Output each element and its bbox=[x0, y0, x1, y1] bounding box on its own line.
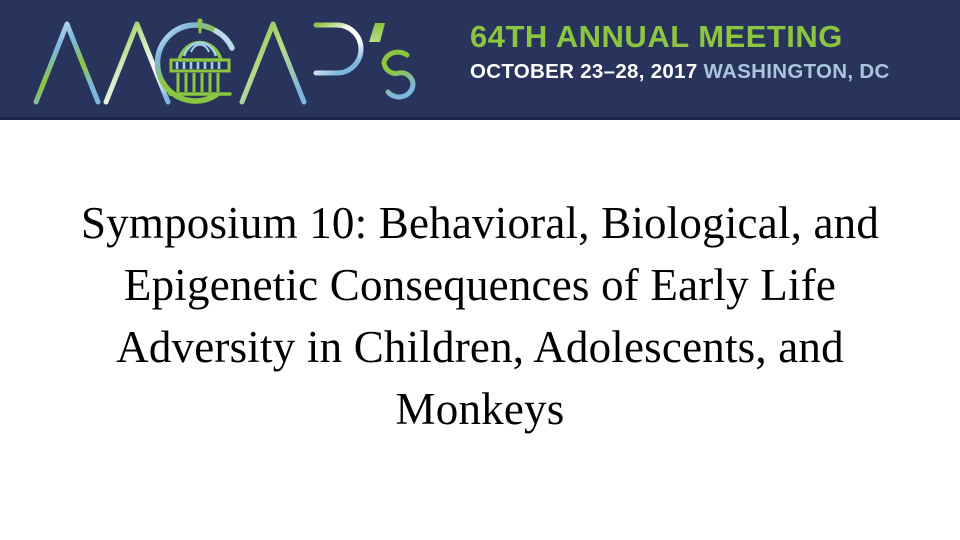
meeting-location: WASHINGTON, DC bbox=[704, 60, 890, 83]
logo-letter-a-3 bbox=[242, 24, 304, 102]
logo-letter-s bbox=[384, 52, 413, 97]
presentation-slide: 64TH ANNUAL MEETING OCTOBER 23–28, 2017 … bbox=[0, 0, 960, 540]
logo-apostrophe bbox=[369, 23, 385, 42]
slide-title: Symposium 10: Behavioral, Biological, an… bbox=[35, 192, 925, 440]
logo-letter-p bbox=[316, 25, 361, 102]
logo-letter-c-capitol-dome-icon bbox=[158, 18, 232, 101]
meeting-dates: OCTOBER 23–28, 2017 bbox=[470, 60, 698, 83]
conference-header-banner: 64TH ANNUAL MEETING OCTOBER 23–28, 2017 … bbox=[0, 0, 960, 120]
aacap-logo bbox=[28, 8, 428, 112]
meeting-title: 64TH ANNUAL MEETING bbox=[470, 20, 940, 55]
meeting-details: 64TH ANNUAL MEETING OCTOBER 23–28, 2017 … bbox=[470, 20, 940, 84]
banner-content: 64TH ANNUAL MEETING OCTOBER 23–28, 2017 … bbox=[0, 0, 960, 117]
meeting-subtitle: OCTOBER 23–28, 2017 WASHINGTON, DC bbox=[470, 60, 940, 84]
slide-body: Symposium 10: Behavioral, Biological, an… bbox=[0, 120, 960, 540]
logo-letter-a-1 bbox=[36, 24, 98, 102]
aacap-logo-svg bbox=[28, 8, 428, 112]
